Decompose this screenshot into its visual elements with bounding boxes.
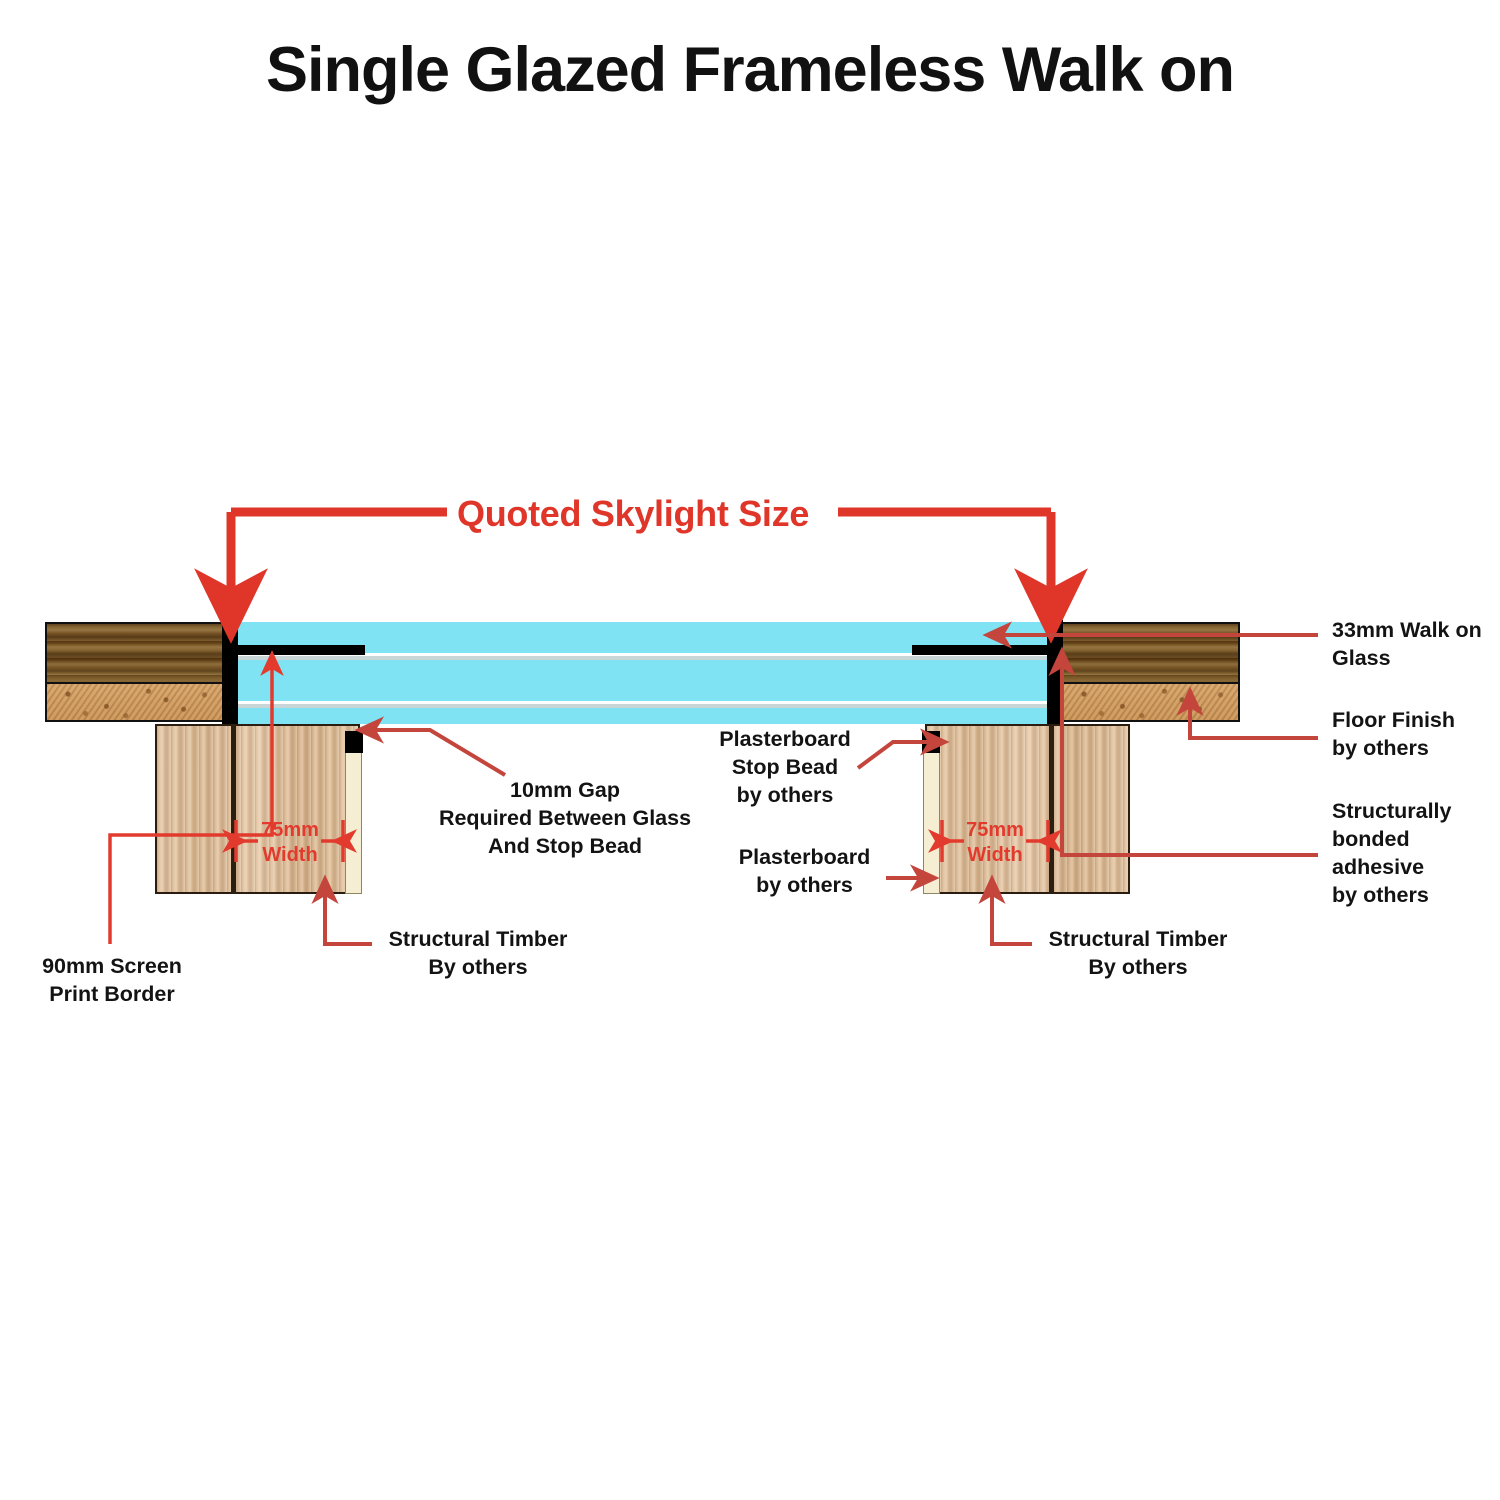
- quoted-skylight-size-label: Quoted Skylight Size: [447, 493, 819, 535]
- annotation-bonded-adhesive: Structurally bonded adhesive by others: [1332, 797, 1497, 909]
- page-title: Single Glazed Frameless Walk on: [0, 34, 1500, 106]
- dimension-label-right-75mm: 75mm Width: [945, 818, 1045, 868]
- screen-print-border-right: [912, 645, 1047, 655]
- annotation-plasterboard-stop-bead: Plasterboard Stop Bead by others: [700, 725, 870, 809]
- floor-finish-left: [45, 622, 222, 684]
- timber-stud-divider-left: [231, 724, 236, 894]
- stop-bead-left: [345, 731, 363, 753]
- glass-mid-pane: [238, 660, 1047, 701]
- plasterboard-left: [345, 752, 362, 894]
- structural-timber-right: [925, 724, 1130, 894]
- annotation-structural-timber-right: Structural Timber By others: [1040, 925, 1236, 981]
- annotation-walk-on-glass: 33mm Walk on Glass: [1332, 616, 1492, 672]
- annotation-plasterboard: Plasterboard by others: [722, 843, 887, 899]
- annotation-floor-finish: Floor Finish by others: [1332, 706, 1492, 762]
- structural-timber-right-leader: [992, 888, 1032, 944]
- timber-stud-divider-right: [1049, 724, 1054, 894]
- cork-underlay-left: [45, 684, 222, 722]
- annotation-structural-timber-left: Structural Timber By others: [380, 925, 576, 981]
- annotation-screen-print-border: 90mm Screen Print Border: [22, 952, 202, 1008]
- annotation-ten-mm-gap: 10mm Gap Required Between Glass And Stop…: [420, 776, 710, 860]
- bonded-adhesive-right: [1047, 620, 1063, 724]
- cork-underlay-right: [1063, 684, 1240, 722]
- structural-timber-left-leader: [325, 888, 372, 944]
- structural-timber-left: [155, 724, 360, 894]
- dimension-label-left-75mm: 75mm Width: [240, 818, 340, 868]
- floor-finish-right: [1063, 622, 1240, 684]
- diagram-canvas: Single Glazed Frameless Walk on: [0, 0, 1500, 1500]
- screen-print-border-left: [238, 645, 365, 655]
- stop-bead-right: [922, 731, 940, 753]
- bonded-adhesive-left: [222, 620, 238, 724]
- plasterboard-right: [923, 752, 940, 894]
- glass-bottom-pane: [238, 708, 1047, 724]
- ten-mm-gap-leader: [368, 730, 505, 775]
